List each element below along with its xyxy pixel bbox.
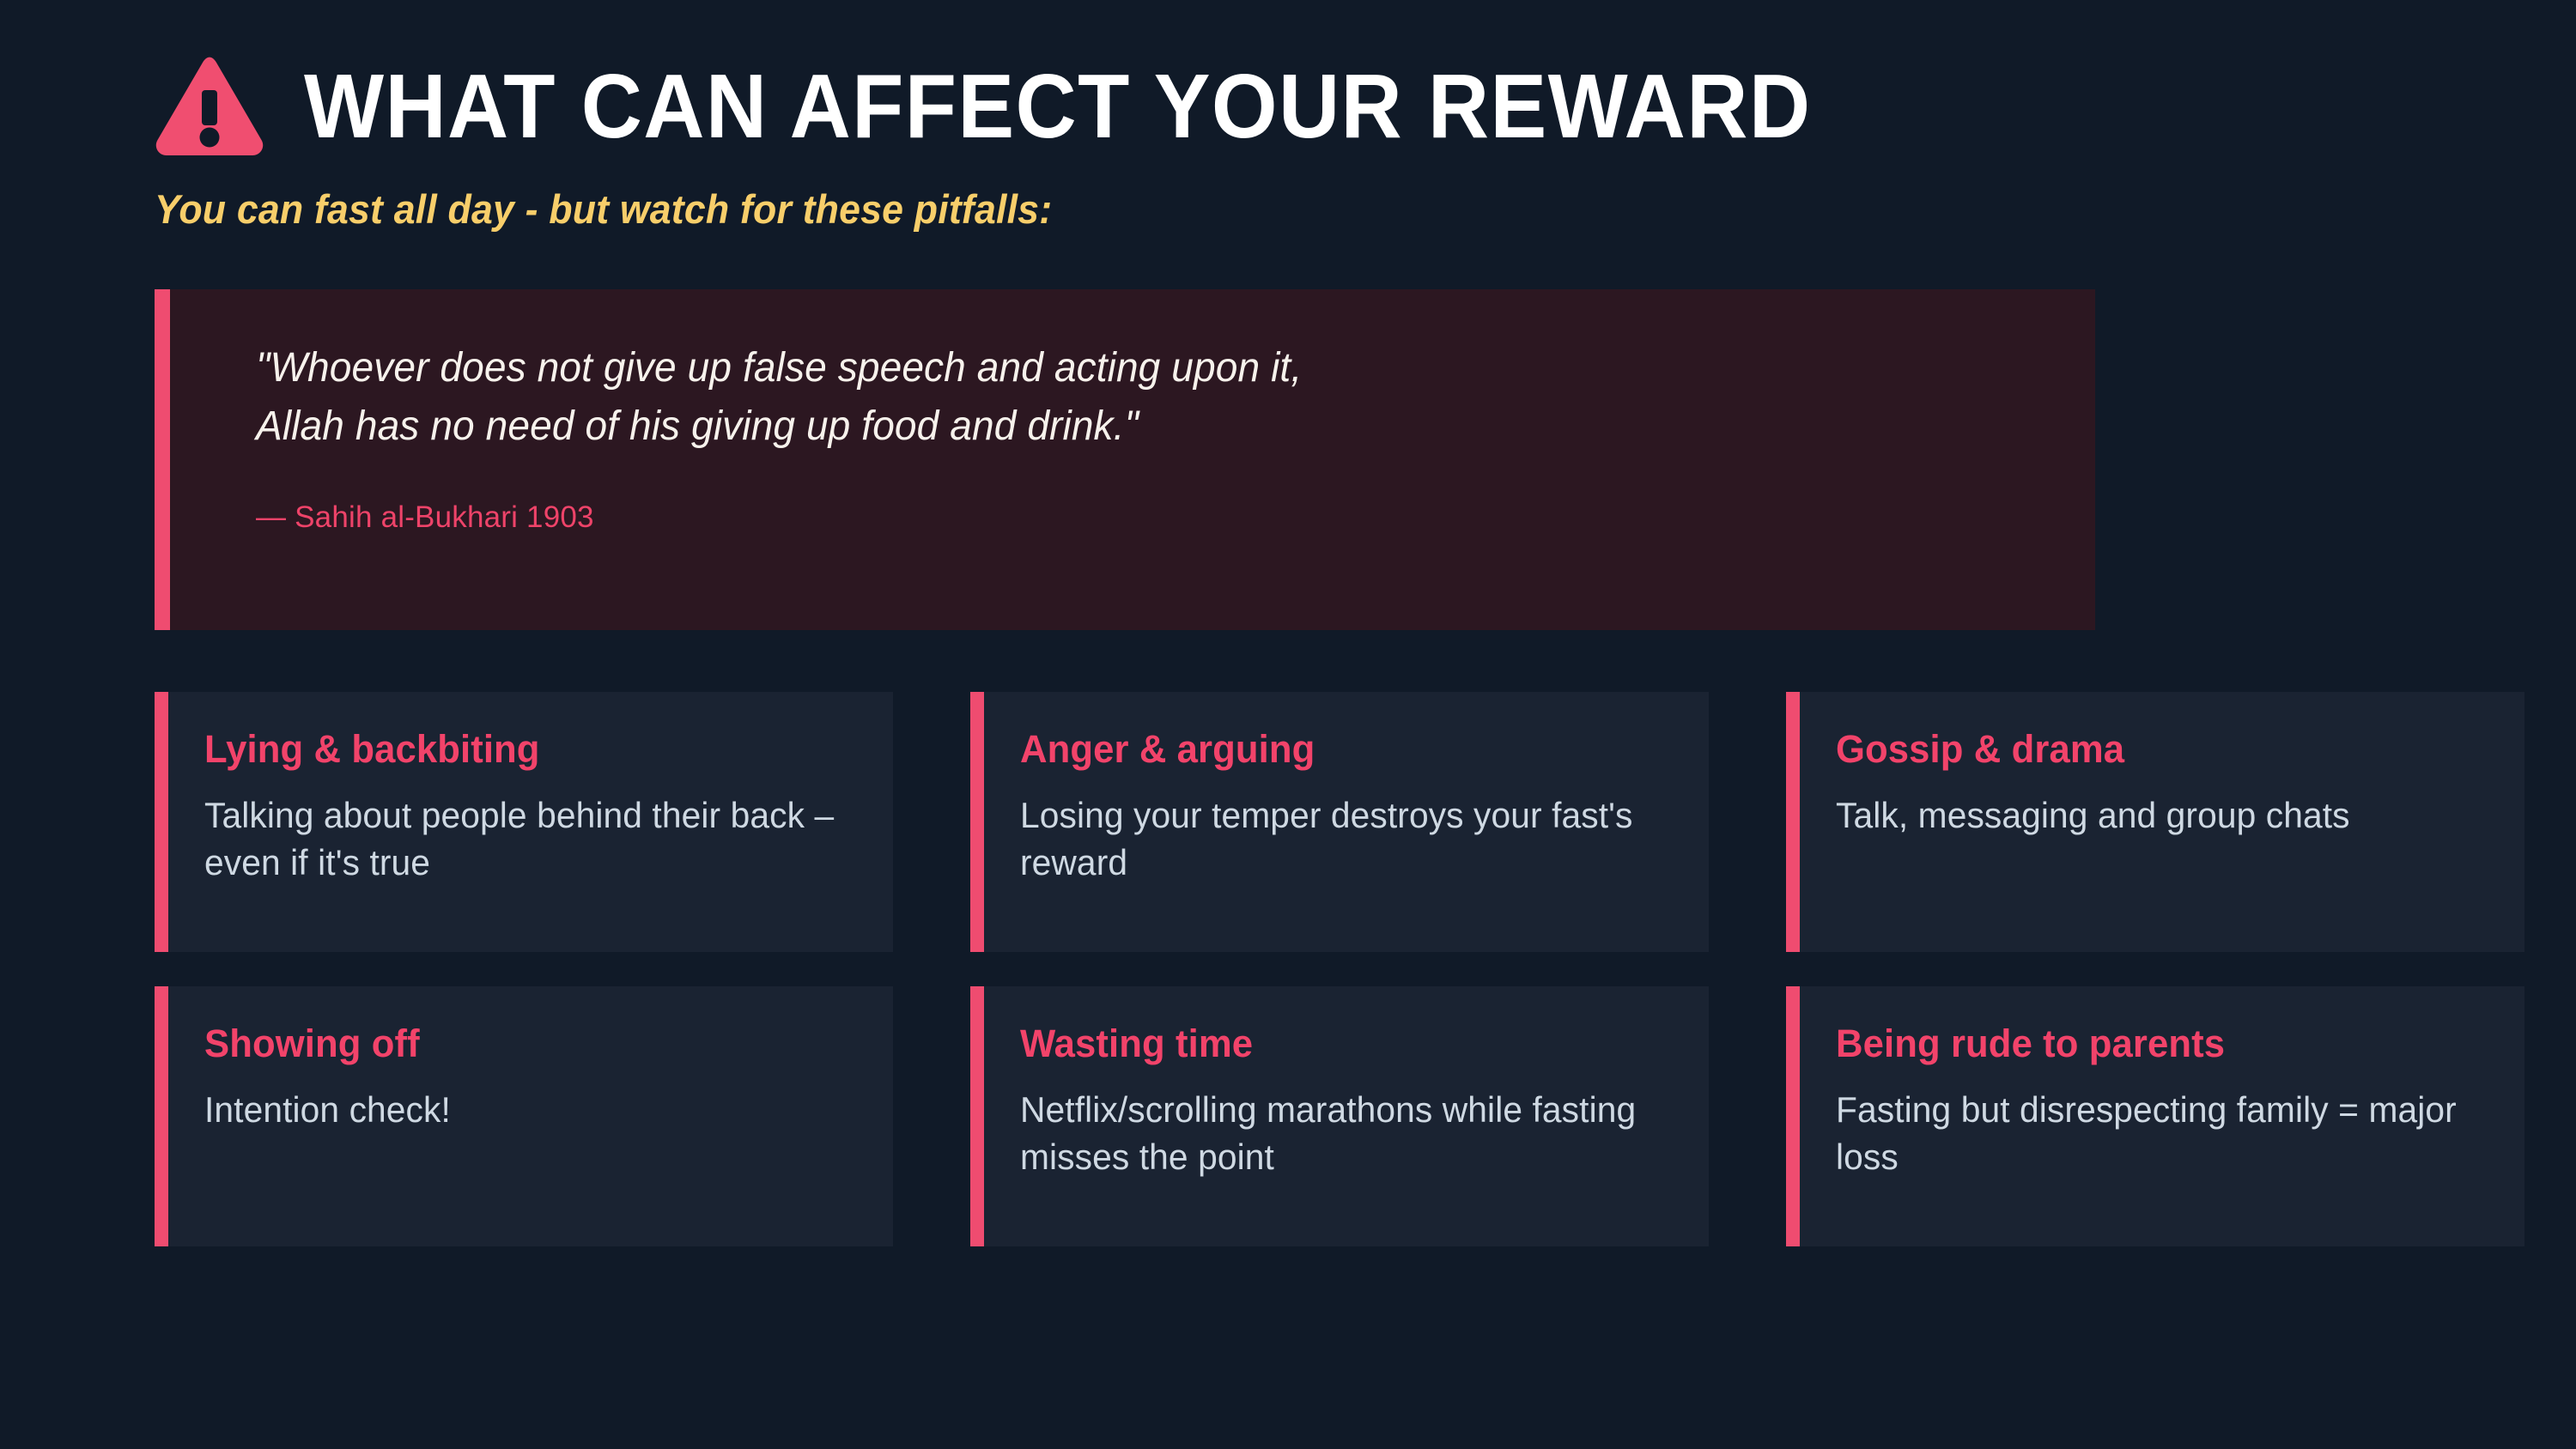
card-accent-bar [155, 692, 168, 952]
card-body: Fasting but disrespecting family = major… [1836, 1086, 2469, 1182]
hadith-quote-block: "Whoever does not give up false speech a… [155, 289, 2095, 630]
card-title: Showing off [204, 1022, 839, 1065]
quote-line-2: Allah has no need of his giving up food … [256, 397, 1964, 456]
pitfall-card-showing-off[interactable]: Showing off Intention check! [155, 986, 893, 1246]
pitfall-card-gossip-drama[interactable]: Gossip & drama Talk, messaging and group… [1786, 692, 2524, 952]
card-accent-bar [970, 692, 984, 952]
card-body: Talking about people behind their back –… [204, 791, 837, 888]
card-body: Talk, messaging and group chats [1836, 791, 2469, 840]
card-accent-bar [1786, 692, 1800, 952]
quote-attribution: — Sahih al-Bukhari 1903 [256, 500, 2035, 535]
pitfall-card-rude-to-parents[interactable]: Being rude to parents Fasting but disres… [1786, 986, 2524, 1246]
card-accent-bar [1786, 986, 1800, 1246]
card-body: Losing your temper destroys your fast's … [1020, 791, 1653, 888]
card-body: Netflix/scrolling marathons while fastin… [1020, 1086, 1653, 1182]
page-subtitle: You can fast all day - but watch for the… [155, 185, 2308, 233]
pitfall-card-wasting-time[interactable]: Wasting time Netflix/scrolling marathons… [970, 986, 1709, 1246]
quote-accent-bar [155, 289, 170, 630]
card-title: Gossip & drama [1836, 728, 2470, 771]
pitfall-card-anger-arguing[interactable]: Anger & arguing Losing your temper destr… [970, 692, 1709, 952]
page-title: WHAT CAN AFFECT YOUR REWARD [304, 60, 1811, 153]
slide-header: WHAT CAN AFFECT YOUR REWARD [155, 0, 2421, 146]
quote-line-1: "Whoever does not give up false speech a… [256, 339, 1964, 397]
card-title: Being rude to parents [1836, 1022, 2470, 1065]
pitfall-card-grid: Lying & backbiting Talking about people … [155, 692, 2421, 1246]
card-title: Lying & backbiting [204, 728, 839, 771]
pitfall-card-lying-backbiting[interactable]: Lying & backbiting Talking about people … [155, 692, 893, 952]
slide-root: WHAT CAN AFFECT YOUR REWARD You can fast… [0, 0, 2576, 1449]
warning-triangle-icon [155, 55, 264, 158]
card-accent-bar [970, 986, 984, 1246]
card-accent-bar [155, 986, 168, 1246]
card-title: Anger & arguing [1020, 728, 1655, 771]
card-title: Wasting time [1020, 1022, 1655, 1065]
card-body: Intention check! [204, 1086, 837, 1134]
